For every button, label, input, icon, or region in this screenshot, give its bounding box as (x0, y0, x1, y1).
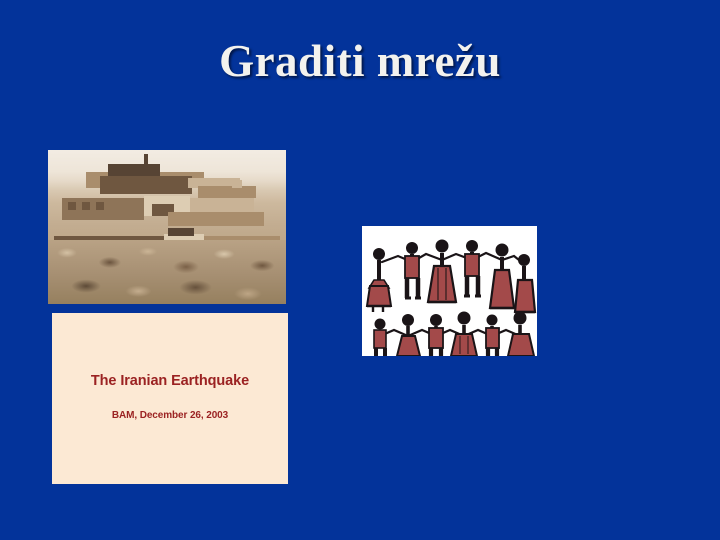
caption-card: The Iranian Earthquake BAM, December 26,… (52, 313, 288, 484)
page-title: Graditi mrežu (0, 38, 720, 85)
caption-subtitle: BAM, December 26, 2003 (52, 410, 288, 421)
people-holding-hands-figures (362, 226, 537, 356)
rubble-field (48, 240, 286, 304)
bam-citadel-ruins-photo (48, 150, 286, 304)
photo-canvas (48, 150, 286, 304)
slide: Graditi mrežu (0, 0, 720, 540)
caption-title: The Iranian Earthquake (52, 373, 288, 389)
people-holding-hands-clipart (362, 226, 537, 356)
